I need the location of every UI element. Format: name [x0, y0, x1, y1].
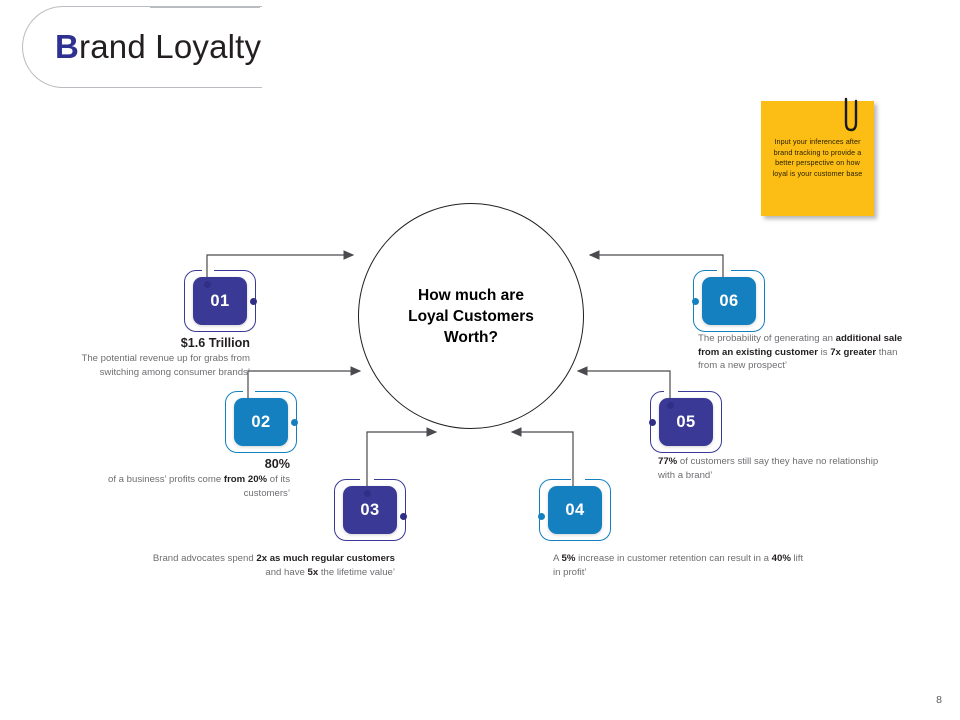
page-number: 8	[936, 694, 942, 706]
node-05-dot-top	[667, 402, 674, 409]
node-06-body: The probability of generating an additio…	[698, 333, 902, 371]
node-04-dot-top	[573, 490, 580, 497]
node-03-body: Brand advocates spend 2x as much regular…	[153, 553, 395, 578]
node-02-caption: 80% of a business’ profits come from 20%…	[70, 455, 290, 500]
node-03-dot-top	[364, 490, 371, 497]
node-02-chip[interactable]: 02	[234, 398, 288, 446]
node-01-dot-right	[250, 298, 257, 305]
node-01-headline: $1.6 Trillion	[50, 334, 250, 352]
node-04-caption: A 5% increase in customer retention can …	[553, 552, 808, 579]
node-01-body: The potential revenue up for grabs from …	[81, 353, 250, 378]
node-06-chip[interactable]: 06	[702, 277, 756, 325]
node-01-chip[interactable]: 01	[193, 277, 247, 325]
node-01-caption: $1.6 Trillion The potential revenue up f…	[50, 334, 250, 379]
node-04-dot-left	[538, 513, 545, 520]
node-06-dot-left	[692, 298, 699, 305]
node-02-dot-top	[245, 402, 252, 409]
node-05-dot-left	[649, 419, 656, 426]
node-06-caption: The probability of generating an additio…	[698, 332, 913, 373]
node-05-caption: 77% of customers still say they have no …	[658, 455, 888, 482]
node-06-dot-top	[720, 281, 727, 288]
node-03-dot-right	[400, 513, 407, 520]
node-04-body: A 5% increase in customer retention can …	[553, 553, 803, 578]
node-02-dot-right	[291, 419, 298, 426]
node-02-body: of a business’ profits come from 20% of …	[108, 474, 290, 499]
node-02-headline: 80%	[70, 455, 290, 473]
node-03-caption: Brand advocates spend 2x as much regular…	[140, 552, 395, 579]
node-05-body: 77% of customers still say they have no …	[658, 456, 878, 481]
node-01-dot-top	[204, 281, 211, 288]
slide-canvas: Brand Loyalty Input your inferences afte…	[0, 0, 960, 720]
